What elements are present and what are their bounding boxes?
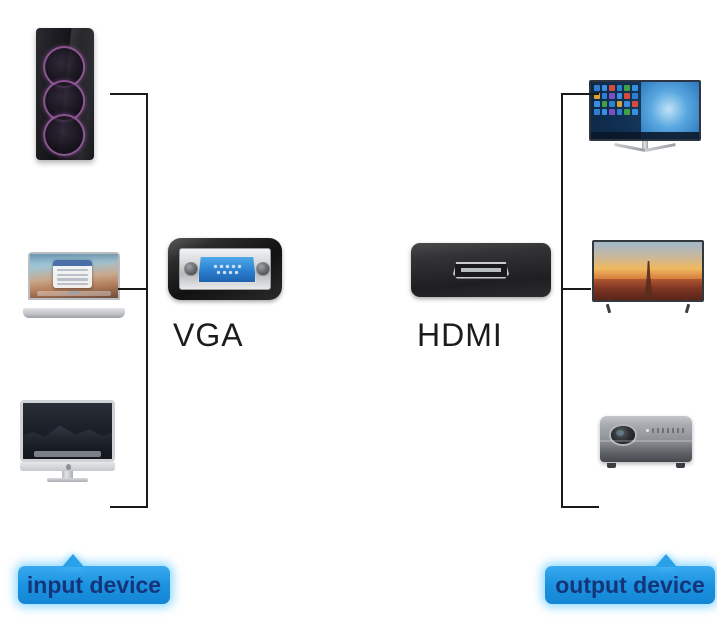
device-tv (592, 240, 704, 316)
input-device-label: input device (21, 572, 167, 599)
vga-label: VGA (173, 317, 244, 354)
projector-indicator-icon (646, 429, 649, 432)
output-bracket-spine (561, 93, 563, 508)
projector-body (600, 416, 692, 462)
imac-dock (34, 451, 102, 457)
device-projector (600, 410, 692, 472)
window-titlebar (53, 260, 92, 266)
device-pc-tower (36, 28, 94, 160)
callout-pointer-icon (655, 554, 677, 567)
vga-screw-hole-left (184, 262, 198, 276)
input-bracket-arm-bottom (110, 506, 147, 508)
windows-taskbar (591, 132, 699, 139)
input-bracket-arm-top (110, 93, 147, 95)
vga-screw-hole-right (256, 262, 270, 276)
imac-neck (62, 471, 73, 478)
projector-leg-right (676, 463, 684, 468)
device-imac (20, 400, 115, 482)
hdmi-port-opening (453, 262, 509, 279)
imac-foot (47, 478, 89, 482)
output-bracket-arm-middle (562, 288, 591, 290)
pc-tower-body (36, 28, 94, 160)
start-menu-tiles (594, 85, 638, 115)
output-device-callout: output device (545, 566, 715, 604)
projector-lens-icon (609, 424, 637, 445)
vga-connector-icon (168, 238, 282, 300)
monitor-foot-right (645, 143, 676, 152)
laptop-finder-window (53, 260, 92, 288)
projector-vents (652, 428, 685, 433)
imac-screen (20, 400, 115, 462)
apple-logo-icon (66, 464, 71, 470)
hdmi-connector-icon (411, 243, 551, 297)
vga-pin-row (214, 265, 241, 268)
input-bracket-arm-middle (118, 288, 147, 290)
vga-faceplate (179, 248, 271, 290)
output-bracket (561, 93, 599, 508)
device-monitor (589, 80, 701, 162)
callout-pointer-icon (62, 554, 84, 567)
output-device-label: output device (549, 572, 711, 599)
output-bracket-arm-bottom (562, 506, 599, 508)
input-bracket-spine (146, 93, 148, 508)
window-row (57, 274, 88, 276)
monitor-screen (589, 80, 701, 141)
tv-foot-right (685, 304, 690, 314)
window-row (57, 269, 88, 271)
projector-leg-left (607, 463, 615, 468)
hdmi-label: HDMI (417, 317, 503, 354)
input-device-callout: input device (18, 566, 170, 604)
device-laptop (28, 252, 120, 318)
vga-pin-row (217, 271, 238, 274)
tv-foot-left (605, 304, 610, 314)
window-row (57, 283, 88, 285)
diagram-canvas: VGA input device (0, 0, 717, 622)
monitor-foot-left (614, 143, 645, 152)
output-bracket-arm-top (562, 93, 599, 95)
tv-screen (592, 240, 704, 302)
pc-fan-icon (43, 114, 85, 156)
window-row (57, 278, 88, 280)
input-bracket (110, 93, 148, 508)
vga-dsub-port (198, 256, 256, 283)
laptop-notch (68, 291, 79, 294)
